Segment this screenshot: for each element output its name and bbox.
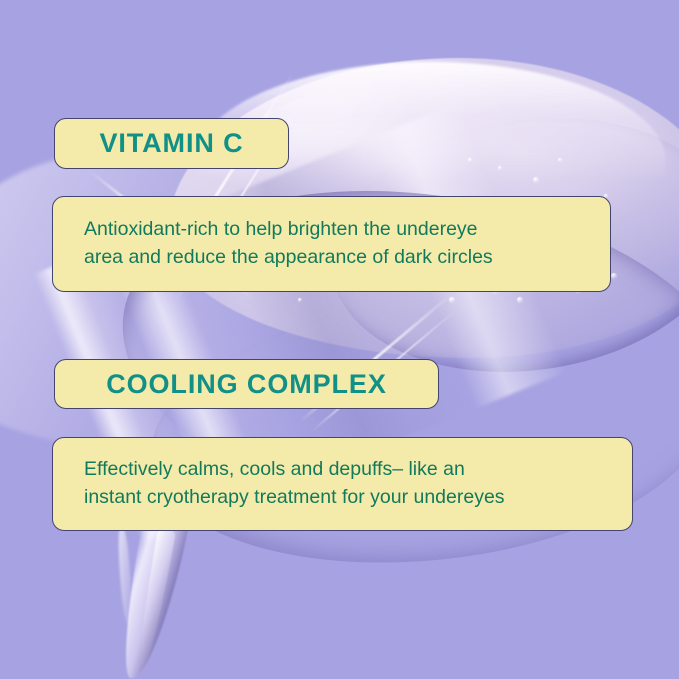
benefit-heading-pill-cooling-complex: COOLING COMPLEX [54, 359, 439, 409]
gel-bubble [449, 297, 455, 303]
benefit-description-card-cooling-complex: Effectively calms, cools and depuffs– li… [52, 437, 633, 531]
gel-bubble [611, 273, 617, 279]
benefit-heading-label: VITAMIN C [99, 128, 243, 159]
gel-bubble [498, 166, 502, 170]
benefit-heading-pill-vitamin-c: VITAMIN C [54, 118, 289, 169]
product-benefits-graphic: VITAMIN C Antioxidant-rich to help brigh… [0, 0, 679, 679]
benefit-description-text: Antioxidant-rich to help brighten the un… [53, 216, 493, 271]
benefit-description-card-vitamin-c: Antioxidant-rich to help brighten the un… [52, 196, 611, 292]
gel-bubble [517, 297, 523, 303]
benefit-heading-label: COOLING COMPLEX [106, 369, 387, 400]
gel-bubble [468, 158, 472, 162]
benefit-description-text: Effectively calms, cools and depuffs– li… [53, 456, 505, 511]
gel-bubble [533, 177, 539, 183]
gel-swatch-background [0, 0, 679, 679]
gel-bubble [558, 158, 562, 162]
gel-bubble [298, 298, 302, 302]
